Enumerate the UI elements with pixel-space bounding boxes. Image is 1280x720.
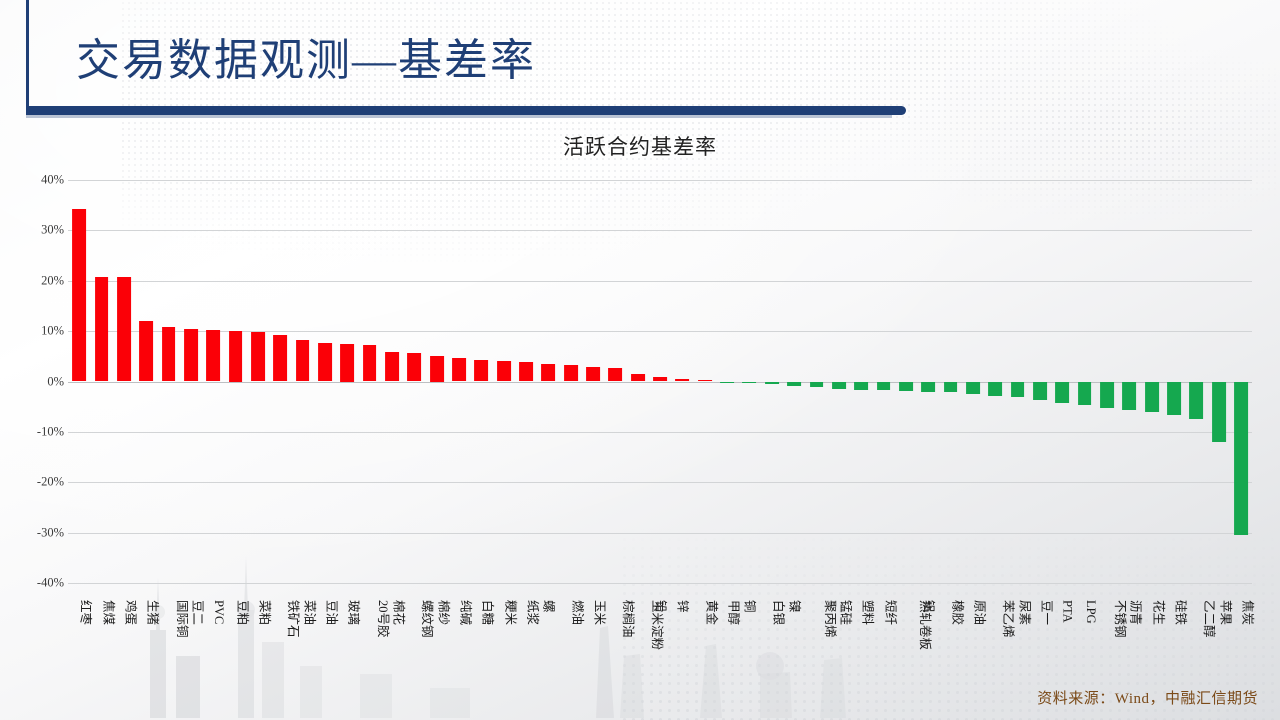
plot-area: [68, 180, 1252, 583]
x-axis-tick-label: 镍: [788, 600, 801, 613]
bar-column: [560, 180, 582, 583]
x-axis-tick: 白糖: [470, 598, 492, 716]
bar: [1100, 382, 1114, 408]
bar-series: [68, 180, 1252, 583]
x-axis-tick: 铅: [649, 598, 671, 716]
bar-column: [761, 180, 783, 583]
bar-column: [269, 180, 291, 583]
x-axis-tick: 豆油: [314, 598, 336, 716]
bar-column: [828, 180, 850, 583]
bar: [430, 356, 444, 381]
bar-column: [537, 180, 559, 583]
x-axis-tick: 纸浆: [515, 598, 537, 716]
x-axis-tick-label: 锌: [676, 600, 689, 613]
bar-column: [224, 180, 246, 583]
bar-column: [358, 180, 380, 583]
x-axis-tick: 苯乙烯: [984, 598, 1006, 716]
bar: [631, 374, 645, 382]
x-axis-tick: 棕榈油: [604, 598, 626, 716]
slide-header: 交易数据观测—基差率: [0, 0, 1280, 118]
bar: [1145, 382, 1159, 412]
bar: [899, 382, 913, 391]
x-axis-tick: 橡胶: [939, 598, 961, 716]
bar-column: [872, 180, 894, 583]
bar-column: [113, 180, 135, 583]
bar-column: [1051, 180, 1073, 583]
bar: [273, 335, 287, 381]
x-axis-tick: 红枣: [68, 598, 90, 716]
bar-column: [448, 180, 470, 583]
bar: [385, 352, 399, 381]
bar-column: [336, 180, 358, 583]
bar: [117, 277, 131, 381]
x-axis-tick: 甲醇: [716, 598, 738, 716]
bar-column: [895, 180, 917, 583]
y-axis-tick: -40%: [18, 576, 64, 591]
bar-column: [515, 180, 537, 583]
bar-column: [805, 180, 827, 583]
x-axis-tick: 豆二: [180, 598, 202, 716]
x-axis-tick: 短纤: [872, 598, 894, 716]
bar-column: [627, 180, 649, 583]
bar-column: [1163, 180, 1185, 583]
bar-column: [1185, 180, 1207, 583]
basis-rate-bar-chart: 40%30%20%10%0%-10%-20%-30%-40%: [20, 170, 1260, 595]
x-axis-tick: 燃油: [560, 598, 582, 716]
bar: [877, 382, 891, 391]
bar-column: [90, 180, 112, 583]
bar: [1033, 382, 1047, 400]
bar: [1055, 382, 1069, 404]
bar-column: [962, 180, 984, 583]
bar: [743, 382, 757, 384]
x-axis-tick-label: 铝: [922, 600, 935, 613]
x-axis-tick: 铜: [738, 598, 760, 716]
bar-column: [1118, 180, 1140, 583]
bar: [988, 382, 1002, 397]
x-axis-tick: 镍: [783, 598, 805, 716]
x-axis-tick: 纯碱: [448, 598, 470, 716]
bar-column: [202, 180, 224, 583]
bar: [340, 344, 354, 382]
x-axis-tick: 玉米: [582, 598, 604, 716]
bar-column: [1006, 180, 1028, 583]
bar: [95, 277, 109, 382]
x-axis-tick: 国际铜: [157, 598, 179, 716]
bar-column: [917, 180, 939, 583]
bar-column: [649, 180, 671, 583]
x-axis-tick: 螺: [537, 598, 559, 716]
bar: [184, 329, 198, 381]
source-note: 资料来源：Wind，中融汇信期货: [1037, 687, 1258, 708]
x-axis-tick: 豆粕: [224, 598, 246, 716]
header-underline: [26, 106, 906, 115]
bar: [1167, 382, 1181, 415]
x-axis-tick: 玉米淀粉: [627, 598, 649, 716]
bar-column: [314, 180, 336, 583]
bar-column: [426, 180, 448, 583]
bar-column: [1073, 180, 1095, 583]
bar-column: [1208, 180, 1230, 583]
bar: [229, 331, 243, 381]
bar-column: [157, 180, 179, 583]
y-axis-tick: 20%: [18, 273, 64, 288]
bar: [832, 382, 846, 389]
bar-column: [582, 180, 604, 583]
bar: [497, 361, 511, 382]
x-axis-tick: 黄金: [694, 598, 716, 716]
x-axis-tick: 棉纱: [426, 598, 448, 716]
bar-column: [403, 180, 425, 583]
bar-column: [939, 180, 961, 583]
bar: [318, 343, 332, 382]
bar: [452, 358, 466, 381]
bar-column: [291, 180, 313, 583]
x-axis-tick: 原油: [962, 598, 984, 716]
bar: [519, 362, 533, 382]
bar-column: [604, 180, 626, 583]
y-axis-tick: -20%: [18, 475, 64, 490]
bar: [698, 380, 712, 381]
x-axis-tick-label: 焦炭: [1241, 600, 1254, 625]
x-axis-tick-label: 铜: [743, 600, 756, 613]
bar-column: [1096, 180, 1118, 583]
bar-column: [1029, 180, 1051, 583]
x-axis-tick: 聚丙烯: [805, 598, 827, 716]
chart-title: 活跃合约基差率: [0, 131, 1280, 161]
bar-column: [470, 180, 492, 583]
bar: [251, 332, 265, 382]
x-axis-tick: 焦煤: [90, 598, 112, 716]
x-axis-tick: 锌: [671, 598, 693, 716]
bar-column: [1230, 180, 1252, 583]
x-axis-tick: 白银: [761, 598, 783, 716]
x-axis-tick-label: 螺: [542, 600, 555, 613]
bar: [676, 379, 690, 381]
bar-column: [381, 180, 403, 583]
bar: [586, 367, 600, 382]
bar: [653, 377, 667, 382]
bar-column: [180, 180, 202, 583]
bar-column: [493, 180, 515, 583]
bar: [72, 209, 86, 381]
header-left-rule: [26, 0, 29, 112]
bar-column: [850, 180, 872, 583]
x-axis-tick: 棉花: [381, 598, 403, 716]
x-axis-tick: 菜粕: [247, 598, 269, 716]
bar: [1011, 382, 1025, 398]
bar-column: [68, 180, 90, 583]
x-axis-tick-label: LPG: [1084, 600, 1097, 624]
bar: [854, 382, 868, 390]
x-axis-tick: 塑料: [850, 598, 872, 716]
bar: [921, 382, 935, 392]
bar: [1189, 382, 1203, 419]
y-axis-tick: 30%: [18, 223, 64, 238]
bar: [787, 382, 801, 387]
bar: [944, 382, 958, 393]
bar-column: [984, 180, 1006, 583]
bar: [541, 364, 555, 382]
x-axis-tick: 热轧卷板: [895, 598, 917, 716]
x-axis-tick: 铁矿石: [269, 598, 291, 716]
bar: [474, 360, 488, 382]
gridline: [68, 583, 1252, 584]
bar-column: [247, 180, 269, 583]
bar: [765, 382, 779, 384]
x-axis-tick: 锰硅: [828, 598, 850, 716]
bar-column: [716, 180, 738, 583]
bar-column: [1141, 180, 1163, 583]
x-axis-tick: 20号胶: [358, 598, 380, 716]
bar: [1212, 382, 1226, 443]
x-axis-tick: 菜油: [291, 598, 313, 716]
bar: [206, 330, 220, 381]
bar: [1234, 382, 1248, 536]
y-axis-tick: 0%: [18, 374, 64, 389]
y-axis-tick: 40%: [18, 173, 64, 188]
x-axis-tick: 尿素: [1006, 598, 1028, 716]
x-axis-tick: PVC: [202, 598, 224, 716]
x-axis-tick: 粳米: [493, 598, 515, 716]
bar: [966, 382, 980, 394]
bar: [363, 345, 377, 382]
bar-column: [694, 180, 716, 583]
bar-column: [738, 180, 760, 583]
y-axis-tick: -30%: [18, 525, 64, 540]
slide-canvas: 交易数据观测—基差率 活跃合约基差率 40%30%20%10%0%-10%-20…: [0, 0, 1280, 720]
bar: [564, 365, 578, 382]
bar-column: [671, 180, 693, 583]
x-axis-tick: 铝: [917, 598, 939, 716]
x-axis-tick: 螺纹钢: [403, 598, 425, 716]
x-axis-tick-label: PTA: [1061, 600, 1074, 623]
bar-column: [783, 180, 805, 583]
x-axis-tick: 生猪: [135, 598, 157, 716]
bar: [720, 382, 734, 383]
bar: [407, 353, 421, 382]
x-axis-tick: 鸡蛋: [113, 598, 135, 716]
bar: [810, 382, 824, 388]
bar: [139, 321, 153, 382]
y-axis-tick: 10%: [18, 324, 64, 339]
y-axis-tick: -10%: [18, 424, 64, 439]
bar: [296, 340, 310, 381]
page-title: 交易数据观测—基差率: [76, 33, 536, 89]
bar: [609, 368, 623, 382]
x-axis-tick: 玻璃: [336, 598, 358, 716]
bar: [162, 327, 176, 381]
bar: [1078, 382, 1092, 405]
y-axis-labels: 40%30%20%10%0%-10%-20%-30%-40%: [20, 180, 64, 583]
bar-column: [135, 180, 157, 583]
bar: [1122, 382, 1136, 410]
x-axis-tick-label: 铅: [654, 600, 667, 613]
